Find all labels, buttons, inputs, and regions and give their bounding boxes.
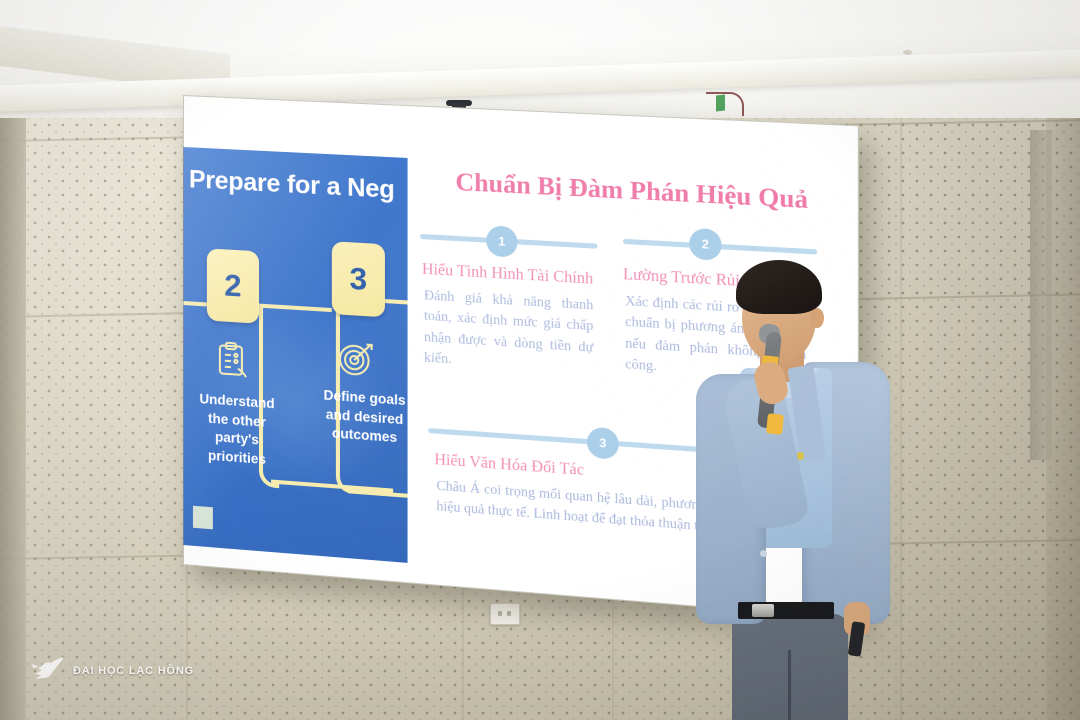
belt-buckle <box>752 604 774 617</box>
step-card-2: 2 <box>207 248 259 323</box>
slide-corner-square <box>193 506 213 530</box>
section-number-1: 1 <box>486 225 517 257</box>
microphone-band <box>766 413 784 435</box>
conference-room-photo: Prepare for a Neg 2 3 <box>0 0 1080 720</box>
section-number-3: 3 <box>587 427 619 460</box>
watermark: ĐẠI HỌC LẠC HỒNG <box>30 655 194 686</box>
watermark-text: ĐẠI HỌC LẠC HỒNG <box>73 665 194 677</box>
trouser-seam <box>788 650 791 720</box>
slide-right-title: Chuẩn Bị Đàm Phán Hiệu Quả <box>418 167 848 218</box>
ear <box>810 308 824 328</box>
clipboard-checklist-icon <box>211 339 255 386</box>
wall-power-outlet <box>490 603 520 625</box>
step-card-2-caption: Understand the other party's priorities <box>191 390 283 471</box>
shirt-button <box>760 550 767 557</box>
presenter <box>690 250 905 720</box>
section-1-body: Đánh giá khả năng thanh toán, xác định m… <box>424 285 593 378</box>
slide-left-blue-panel: Prepare for a Neg 2 3 <box>183 147 414 563</box>
crane-bird-logo-icon <box>30 655 66 686</box>
target-dart-icon <box>334 334 379 381</box>
step-card-3-caption: Define goals and desired outcomes <box>312 386 414 450</box>
slide-left-title: Prepare for a Neg <box>189 165 414 207</box>
ceiling-cable <box>706 92 744 116</box>
wall-left-edge <box>0 118 26 720</box>
green-wall-marker <box>716 95 725 112</box>
ceiling-sensor-icon <box>903 50 912 55</box>
hair <box>736 260 822 314</box>
wall-right-shadow <box>1046 118 1080 720</box>
section-1-heading: Hiểu Tình Hình Tài Chính <box>422 261 593 289</box>
step-card-3: 3 <box>332 241 385 317</box>
section-3-heading: Hiểu Văn Hóa Đối Tác <box>434 451 584 480</box>
